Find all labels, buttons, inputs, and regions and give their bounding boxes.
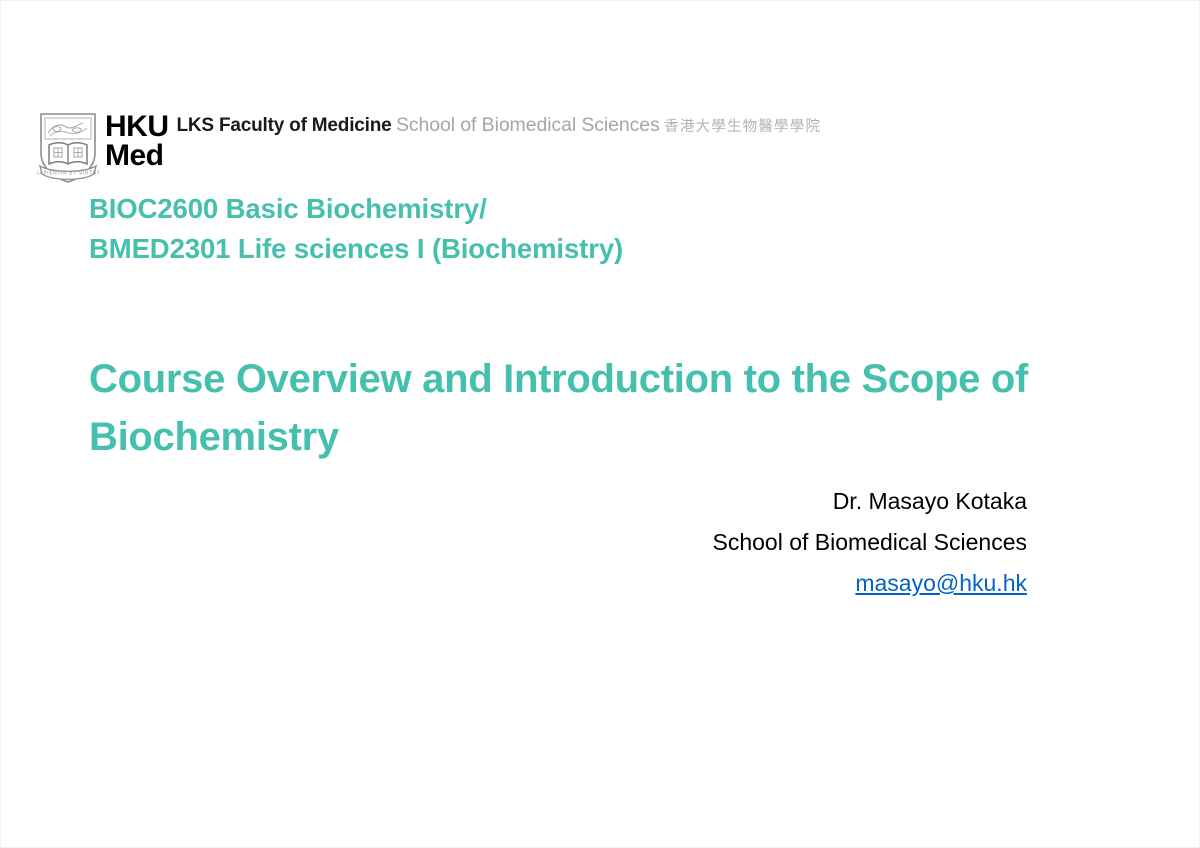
faculty-name-block: LKS Faculty of Medicine School of Biomed… <box>177 111 822 137</box>
svg-text:SAPIENTIA ET VIRTUS: SAPIENTIA ET VIRTUS <box>37 171 99 177</box>
presenter-email-link[interactable]: masayo@hku.hk <box>855 570 1027 596</box>
course-code-title: BIOC2600 Basic Biochemistry/ BMED2301 Li… <box>89 189 1109 269</box>
wordmark-line-med: Med <box>105 141 169 170</box>
faculty-name: LKS Faculty of Medicine <box>177 115 392 136</box>
presenter-info: Dr. Masayo Kotaka School of Biomedical S… <box>713 481 1028 604</box>
page-title: Course Overview and Introduction to the … <box>89 350 1119 466</box>
hku-crest-icon: SAPIENTIA ET VIRTUS <box>37 111 99 185</box>
course-code-line-1: BIOC2600 Basic Biochemistry/ <box>89 189 1109 229</box>
presenter-affiliation: School of Biomedical Sciences <box>713 522 1028 563</box>
presenter-email-line: masayo@hku.hk <box>713 563 1028 604</box>
school-name-chinese: 香港大學生物醫學學院 <box>664 119 821 135</box>
hku-med-logo: SAPIENTIA ET VIRTUS HKU Med LKS Faculty … <box>37 111 821 185</box>
course-code-line-2: BMED2301 Life sciences I (Biochemistry) <box>89 229 1109 269</box>
presenter-name: Dr. Masayo Kotaka <box>713 481 1028 522</box>
slide-canvas: SAPIENTIA ET VIRTUS HKU Med LKS Faculty … <box>0 0 1200 848</box>
hku-med-wordmark: HKU Med <box>105 112 169 171</box>
wordmark-line-hku: HKU <box>105 112 169 141</box>
school-name: School of Biomedical Sciences <box>396 114 660 136</box>
